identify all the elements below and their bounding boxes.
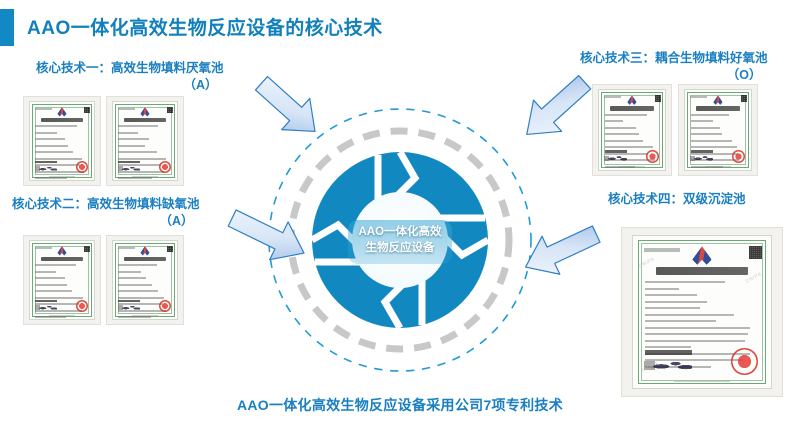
certificate-paper xyxy=(29,101,96,182)
certificate-body-lines xyxy=(118,125,171,157)
qr-code-icon xyxy=(167,107,173,113)
official-seal-icon xyxy=(732,150,745,163)
arrow-tech-2 xyxy=(226,203,312,269)
arrow-tech-1 xyxy=(250,74,328,142)
cnipa-emblem-icon xyxy=(140,246,149,255)
certificate-body-lines xyxy=(605,114,660,146)
center-label-plate xyxy=(348,220,452,264)
qr-code-icon xyxy=(84,246,90,252)
arrow-shape xyxy=(513,72,597,146)
certificate-footer-line xyxy=(49,176,75,178)
arrow-shape xyxy=(250,74,328,142)
certificate-paper xyxy=(112,240,179,321)
section-title-tech-3: 核心技术三：耦合生物填料好氧池 xyxy=(580,51,768,65)
page-title: AAO一体化高效生物反应设备的核心技术 xyxy=(27,13,383,40)
section-title-tech-2: 核心技术二：高效生物填料缺氧池 xyxy=(12,197,200,211)
cnipa-emblem-icon xyxy=(140,107,149,116)
certificate-footer-line xyxy=(132,176,158,178)
certificate-paper xyxy=(684,89,753,172)
certificate-paper xyxy=(112,101,179,182)
certificate-barcode xyxy=(605,150,628,152)
certificate-heading xyxy=(124,118,167,122)
signature-mark xyxy=(38,304,57,311)
patent-certificate-image-large[interactable]: CNIPA CNIPA CNIPA xyxy=(622,228,782,396)
section-label-tech-2: 核心技术二：高效生物填料缺氧池 （A） xyxy=(12,196,200,230)
certificate-heading xyxy=(610,106,654,110)
arrow-shape xyxy=(226,203,312,269)
qr-code-icon xyxy=(84,107,90,113)
patent-certificate-image[interactable] xyxy=(24,97,100,185)
certificate-heading xyxy=(41,118,84,122)
cnipa-emblem-icon xyxy=(692,246,711,264)
certificate-footer-line xyxy=(132,315,158,317)
section-label-tech-3: 核心技术三：耦合生物填料好氧池 （O） xyxy=(580,50,768,84)
certificate-barcode xyxy=(118,161,140,163)
certificate-barcode xyxy=(691,150,714,152)
section-title-tech-1: 核心技术一：高效生物填料厌氧池 xyxy=(36,61,224,75)
cnipa-emblem-icon xyxy=(627,95,636,105)
section-subtitle-tech-3: （O） xyxy=(580,67,768,84)
certificate-number xyxy=(35,247,52,249)
slide-canvas: AAO一体化高效生物反应设备的核心技术 核心技术一：高效生物填料厌氧池 （A） … xyxy=(0,0,800,439)
signature-mark xyxy=(607,154,627,161)
qr-code-icon xyxy=(167,246,173,252)
certificate-number xyxy=(690,96,707,98)
official-seal-icon xyxy=(646,150,659,163)
certificate-paper xyxy=(598,89,667,172)
arrow-tech-3 xyxy=(513,72,597,146)
signature-mark xyxy=(693,154,713,161)
certificate-footer-line xyxy=(619,166,646,168)
certificate-body-lines xyxy=(691,114,746,146)
arrow-shape xyxy=(518,218,602,284)
cnipa-emblem-icon xyxy=(57,107,66,116)
patent-certificate-image[interactable] xyxy=(107,97,183,185)
qr-code-icon xyxy=(741,95,747,101)
patent-certificate-image[interactable] xyxy=(24,236,100,324)
certificate-body-lines xyxy=(35,125,88,157)
certificate-barcode xyxy=(645,350,692,355)
certificate-heading xyxy=(124,257,167,261)
certificate-number xyxy=(35,108,52,110)
certificate-body-lines xyxy=(35,264,88,296)
official-seal-icon xyxy=(731,348,757,374)
section-title-tech-4: 核心技术四：双级沉淀池 xyxy=(608,192,746,206)
cnipa-emblem-icon xyxy=(57,246,66,255)
qr-code-icon xyxy=(655,95,661,101)
certificate-number xyxy=(118,247,135,249)
signature-mark xyxy=(121,165,140,172)
certificate-heading xyxy=(696,106,740,110)
title-accent-bar xyxy=(0,9,14,46)
certificate-heading xyxy=(41,257,84,261)
certificate-barcode xyxy=(35,161,57,163)
section-subtitle-tech-2: （A） xyxy=(12,213,200,230)
certificate-paper xyxy=(29,240,96,321)
patent-certificate-image[interactable] xyxy=(593,85,671,175)
certificate-barcode xyxy=(118,300,140,302)
section-label-tech-1: 核心技术一：高效生物填料厌氧池 （A） xyxy=(36,60,224,94)
certificate-body-lines xyxy=(645,281,759,342)
certificate-footer-line xyxy=(49,315,75,317)
signature-mark xyxy=(121,304,140,311)
patent-certificate-image[interactable] xyxy=(107,236,183,324)
bottom-caption: AAO一体化高效生物反应设备采用公司7项专利技术 xyxy=(0,395,800,415)
certificate-footer-line xyxy=(674,381,730,383)
certificate-number xyxy=(118,108,135,110)
section-subtitle-tech-1: （A） xyxy=(36,77,224,94)
certificate-number xyxy=(604,96,621,98)
cnipa-emblem-icon xyxy=(713,95,722,105)
arrow-tech-4 xyxy=(518,218,602,284)
certificate-body-lines xyxy=(118,264,171,296)
certificate-barcode xyxy=(35,300,57,302)
certificate-footer-line xyxy=(705,166,732,168)
signature-mark xyxy=(38,165,57,172)
qr-code-icon xyxy=(749,246,761,258)
certificate-heading xyxy=(656,267,748,275)
section-label-tech-4: 核心技术四：双级沉淀池 xyxy=(608,191,746,208)
patent-certificate-image[interactable] xyxy=(679,85,757,175)
certificate-number xyxy=(644,248,680,252)
certificate-paper: CNIPA CNIPA CNIPA xyxy=(632,235,773,390)
